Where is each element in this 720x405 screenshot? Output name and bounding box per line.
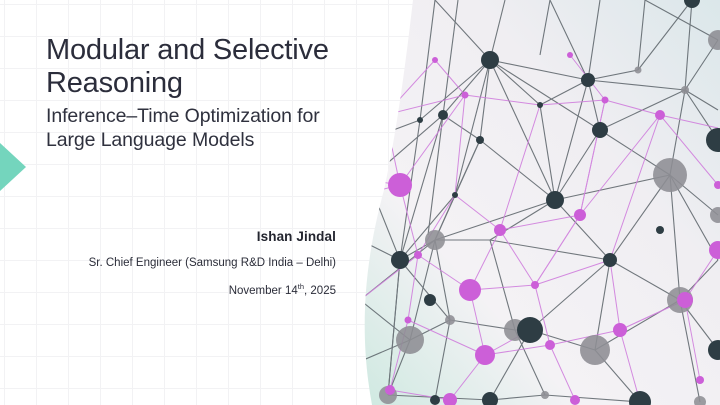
title-block: Modular and Selective Reasoning Inferenc… (46, 34, 364, 153)
title-line-2: Reasoning (46, 67, 183, 99)
slide-canvas: Modular and Selective Reasoning Inferenc… (0, 0, 720, 405)
subtitle-line-2: Large Language Models (46, 129, 254, 151)
network-graph-illustration (340, 0, 720, 405)
date-year: , 2025 (304, 285, 336, 297)
title-line-1: Modular and Selective (46, 34, 329, 66)
author-block: Ishan Jindal Sr. Chief Engineer (Samsung… (36, 229, 336, 297)
date-prefix: November 14 (229, 285, 298, 297)
subtitle-line-1: Inference–Time Optimization for (46, 105, 320, 127)
teal-triangle-accent (0, 143, 26, 191)
author-role: Sr. Chief Engineer (Samsung R&D India – … (36, 257, 336, 269)
author-name: Ishan Jindal (36, 229, 336, 244)
page-subtitle: Inference–Time Optimization for Large La… (46, 104, 364, 153)
presentation-date: November 14th, 2025 (36, 282, 336, 297)
page-title: Modular and Selective Reasoning (46, 34, 364, 100)
